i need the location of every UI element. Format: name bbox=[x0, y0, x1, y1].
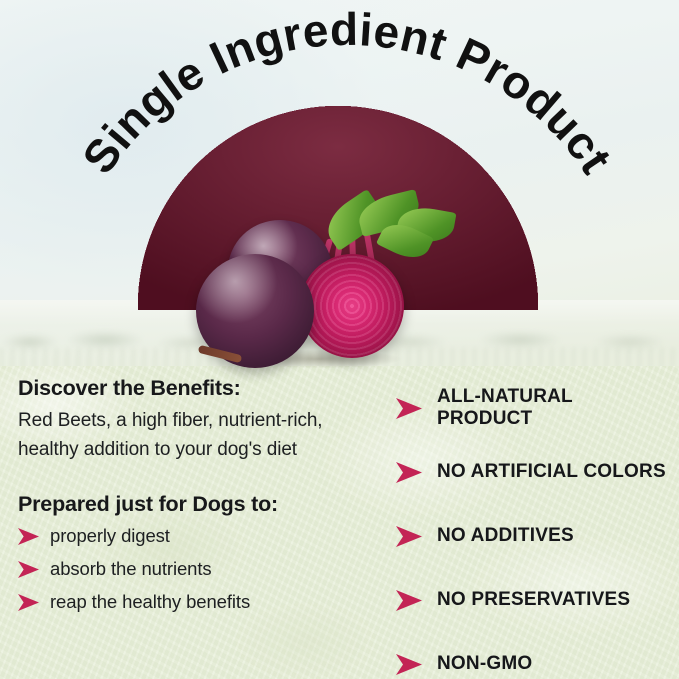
arrow-right-icon bbox=[396, 526, 422, 547]
arrow-right-icon bbox=[18, 561, 39, 578]
headline-arc: Single Ingredient Product bbox=[0, 0, 679, 380]
list-item: NO ARTIFICIAL COLORS bbox=[396, 440, 671, 504]
list-item-label: reap the healthy benefits bbox=[50, 591, 250, 613]
prepared-bullet-list: properly digest absorb the nutrients rea… bbox=[18, 525, 348, 613]
list-item-label: absorb the nutrients bbox=[50, 558, 212, 580]
claims-list: ALL-NATURAL PRODUCT NO ARTIFICIAL COLORS… bbox=[396, 376, 671, 679]
arrow-right-icon bbox=[396, 590, 422, 611]
page-title: Single Ingredient Product bbox=[72, 3, 622, 183]
claim-label: NO ADDITIVES bbox=[437, 525, 574, 547]
list-item: NO ADDITIVES bbox=[396, 504, 671, 568]
arrow-right-icon bbox=[18, 528, 39, 545]
benefits-heading: Discover the Benefits: bbox=[18, 376, 348, 401]
arrow-right-icon bbox=[396, 654, 422, 675]
arrow-right-icon bbox=[396, 462, 422, 483]
claim-label: ALL-NATURAL PRODUCT bbox=[437, 386, 671, 430]
claims-column: ALL-NATURAL PRODUCT NO ARTIFICIAL COLORS… bbox=[396, 376, 671, 679]
benefits-description: Red Beets, a high fiber, nutrient-rich, … bbox=[18, 407, 348, 465]
benefits-column: Discover the Benefits: Red Beets, a high… bbox=[18, 376, 348, 624]
list-item: NON-GMO bbox=[396, 632, 671, 679]
list-item-label: properly digest bbox=[50, 525, 170, 547]
list-item: properly digest bbox=[18, 525, 348, 547]
list-item: ALL-NATURAL PRODUCT bbox=[396, 376, 671, 440]
list-item: absorb the nutrients bbox=[18, 558, 348, 580]
arrow-right-icon bbox=[18, 594, 39, 611]
list-item: NO PRESERVATIVES bbox=[396, 568, 671, 632]
arrow-right-icon bbox=[396, 398, 422, 419]
prepared-heading: Prepared just for Dogs to: bbox=[18, 492, 348, 517]
claim-label: NO ARTIFICIAL COLORS bbox=[437, 461, 666, 483]
list-item: reap the healthy benefits bbox=[18, 591, 348, 613]
claim-label: NO PRESERVATIVES bbox=[437, 589, 630, 611]
claim-label: NON-GMO bbox=[437, 653, 532, 675]
product-infographic: Single Ingredient Product Discover the B… bbox=[0, 0, 679, 679]
